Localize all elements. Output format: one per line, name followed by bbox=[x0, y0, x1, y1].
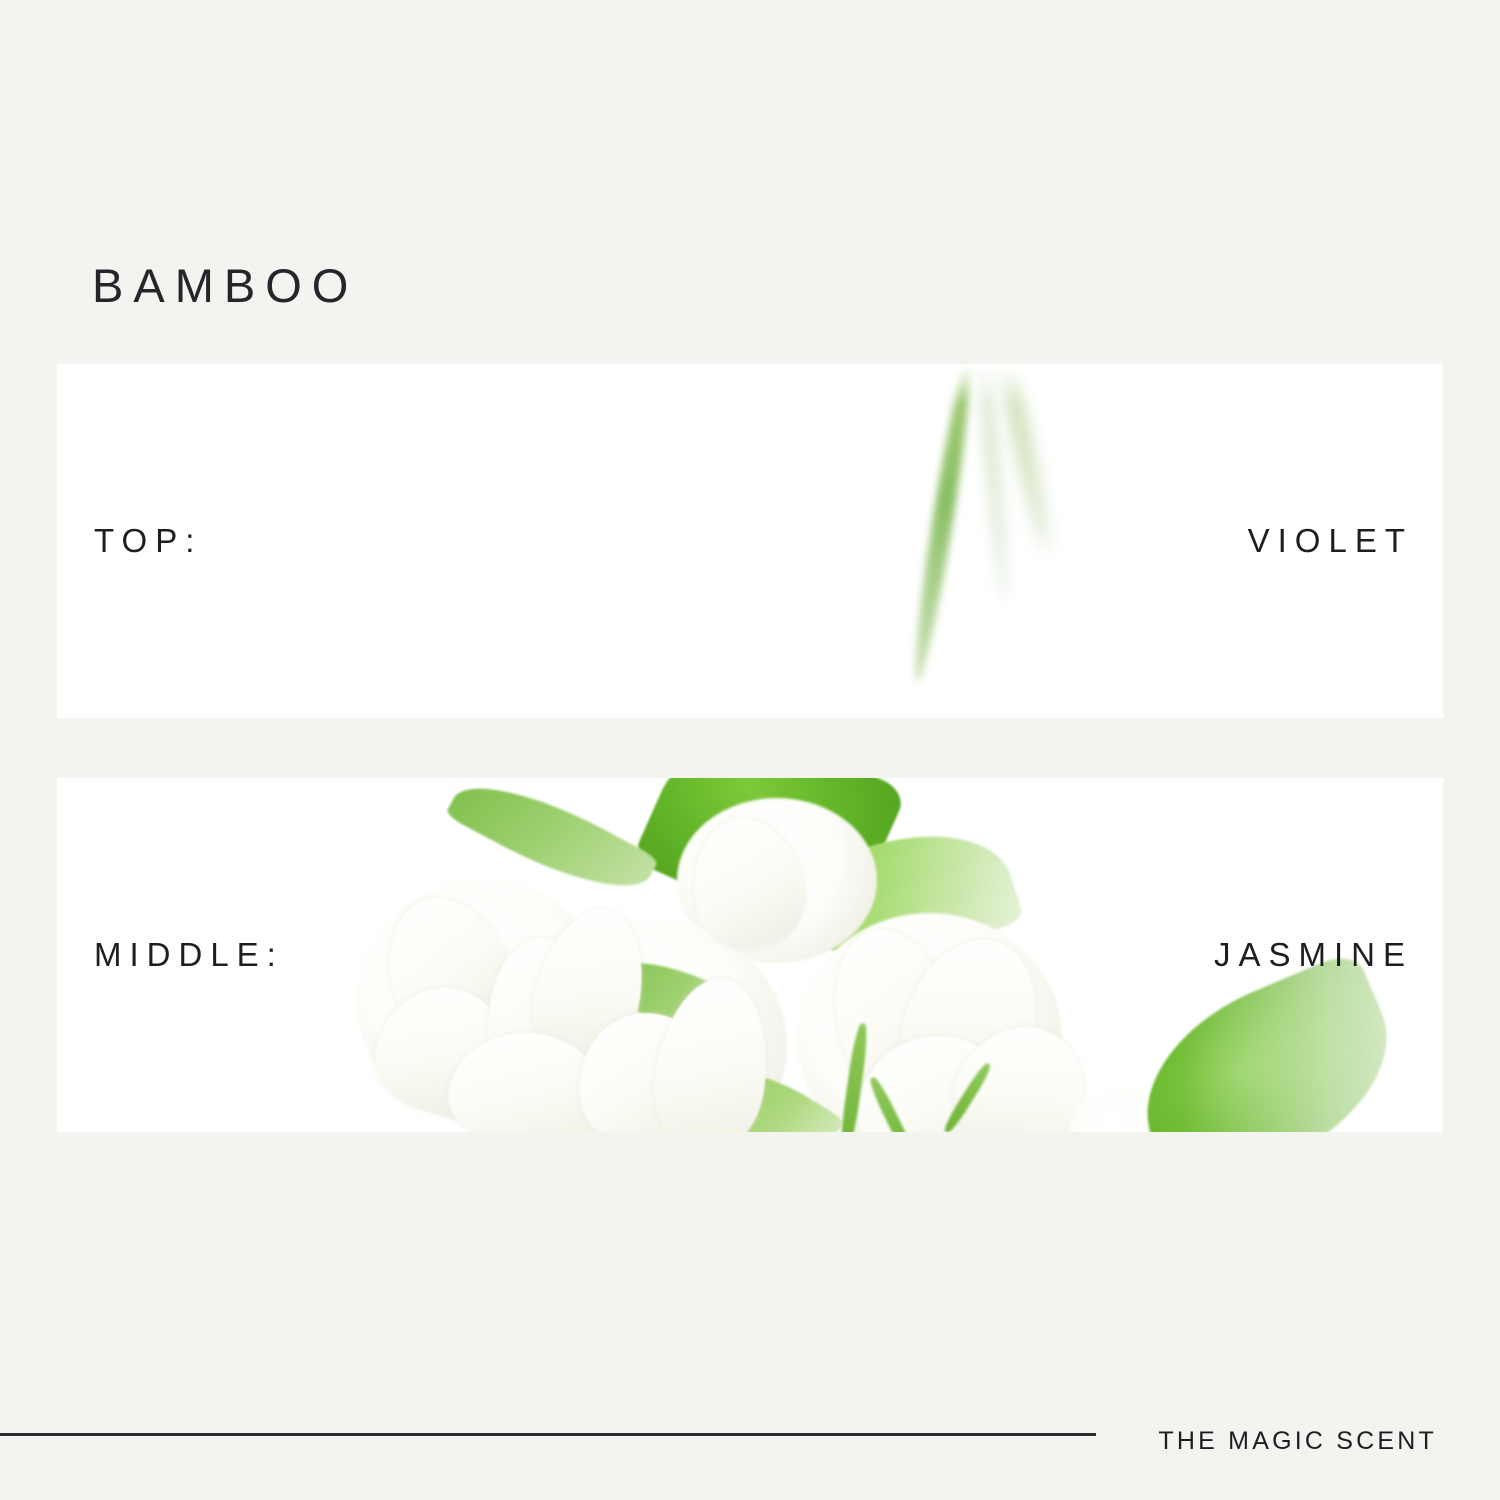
brand-name: THE MAGIC SCENT bbox=[1158, 1427, 1437, 1456]
page-title: BAMBOO bbox=[92, 262, 358, 309]
note-label-middle: MIDDLE: bbox=[94, 936, 284, 974]
violet-image bbox=[57, 364, 1443, 718]
note-value-top: VIOLET bbox=[1248, 522, 1413, 560]
note-label-top: TOP: bbox=[94, 522, 202, 560]
violet-stem-icon bbox=[907, 364, 978, 684]
note-value-middle: JASMINE bbox=[1214, 936, 1413, 974]
note-band-top: TOP: VIOLET bbox=[57, 364, 1443, 718]
violet-illustration bbox=[57, 364, 1443, 718]
footer-divider bbox=[0, 1433, 1096, 1436]
scent-notes-page: BAMBOO bbox=[0, 0, 1500, 1500]
note-band-middle: MIDDLE: JASMINE bbox=[57, 778, 1443, 1132]
